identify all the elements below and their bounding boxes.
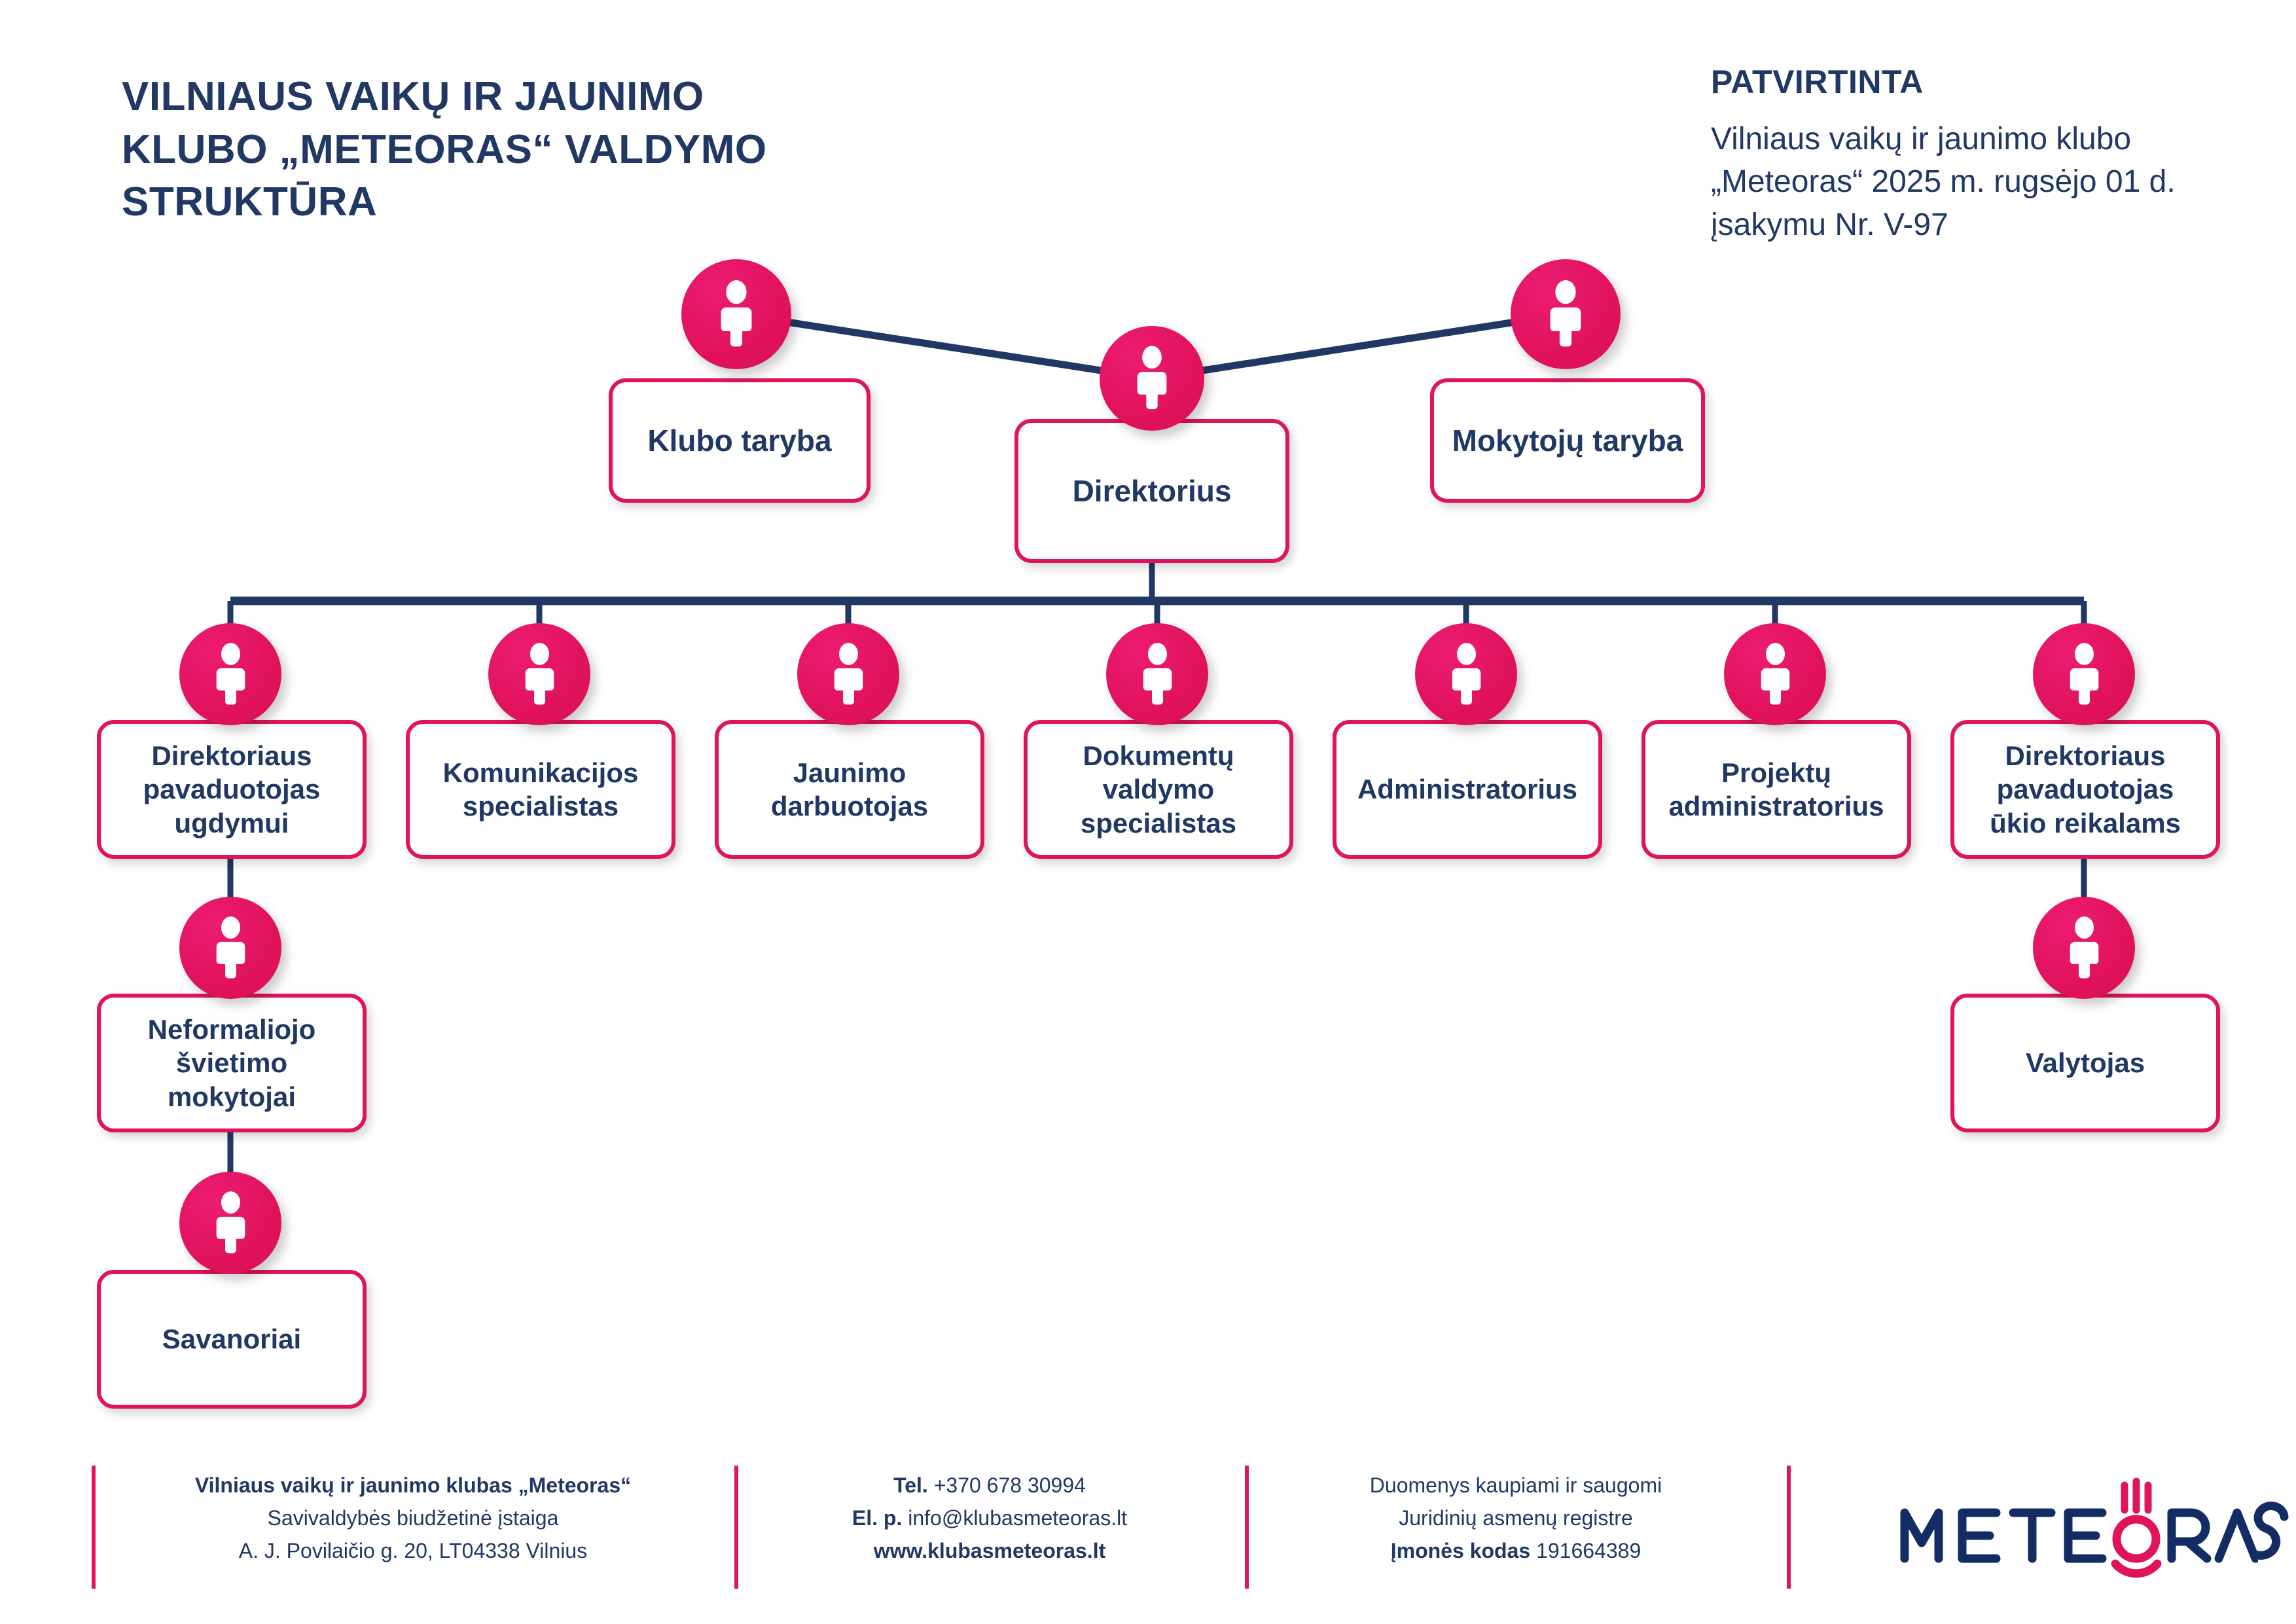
person-icon	[1106, 623, 1208, 725]
footer-line: Vilniaus vaikų ir jaunimo klubas „Meteor…	[92, 1470, 734, 1502]
node-box[interactable]: Savanoriai	[97, 1270, 367, 1409]
footer-line-label: Įmonės kodas	[1391, 1539, 1530, 1562]
person-icon	[1100, 326, 1204, 431]
node-label: Projektų administratorius	[1659, 756, 1893, 823]
footer-column-registry: Duomenys kaupiami ir saugomiJuridinių as…	[1245, 1470, 1787, 1568]
footer-line-label: El. p.	[852, 1506, 902, 1530]
node-box[interactable]: Klubo taryba	[609, 378, 870, 503]
meteoras-logo	[1892, 1475, 2258, 1583]
person-icon	[179, 897, 281, 999]
node-box[interactable]: Mokytojų taryba	[1430, 378, 1705, 503]
node-box[interactable]: Direktorius	[1014, 419, 1289, 563]
person-icon	[1724, 623, 1826, 725]
node-label: Administratorius	[1348, 772, 1587, 806]
node-box[interactable]: Projektų administratorius	[1641, 720, 1911, 859]
node-label: Jaunimo darbuotojas	[762, 756, 937, 823]
org-chart: Klubo tarybaDirektoriusMokytojų tarybaDi…	[0, 0, 2296, 1440]
node-label: Direktoriaus pavaduotojas ūkio reikalams	[1981, 739, 2190, 840]
footer-column-org: Vilniaus vaikų ir jaunimo klubas „Meteor…	[92, 1470, 734, 1568]
footer-line: www.klubasmeteoras.lt	[734, 1535, 1245, 1568]
person-icon	[1415, 623, 1517, 725]
node-label: Direktoriaus pavaduotojas ugdymui	[134, 739, 330, 840]
person-icon	[179, 623, 281, 725]
person-icon	[488, 623, 590, 725]
person-icon	[1511, 259, 1621, 369]
person-icon	[179, 1172, 281, 1274]
node-label: Mokytojų taryba	[1443, 422, 1693, 459]
node-label: Savanoriai	[153, 1322, 310, 1356]
footer-line: Juridinių asmenų registre	[1245, 1502, 1787, 1535]
footer-line: A. J. Povilaičio g. 20, LT04338 Vilnius	[92, 1535, 734, 1568]
node-label: Neformaliojo švietimo mokytojai	[139, 1013, 325, 1113]
footer-line-value: +370 678 30994	[928, 1473, 1086, 1497]
node-box[interactable]: Administratorius	[1333, 720, 1602, 859]
person-icon	[681, 259, 791, 369]
footer-line: Tel. +370 678 30994	[734, 1470, 1245, 1502]
node-label: Dokumentų valdymo specialistas	[1071, 739, 1246, 840]
node-box[interactable]: Dokumentų valdymo specialistas	[1024, 720, 1293, 859]
node-box[interactable]: Komunikacijos specialistas	[406, 720, 675, 859]
node-box[interactable]: Jaunimo darbuotojas	[715, 720, 984, 859]
person-icon	[2033, 623, 2135, 725]
person-icon	[2033, 897, 2135, 999]
footer-column-contacts: Tel. +370 678 30994El. p. info@klubasmet…	[734, 1470, 1245, 1568]
node-box[interactable]: Direktoriaus pavaduotojas ugdymui	[97, 720, 367, 859]
node-label: Direktorius	[1064, 473, 1241, 509]
node-label: Valytojas	[2017, 1046, 2154, 1079]
footer-line-label: Tel.	[893, 1473, 928, 1497]
footer-divider	[1787, 1466, 1791, 1589]
org-chart-page: VILNIAUS VAIKŲ IR JAUNIMO KLUBO „METEORA…	[0, 0, 2296, 1624]
node-box[interactable]: Valytojas	[1950, 994, 2220, 1132]
footer-line-value: info@klubasmeteoras.lt	[902, 1506, 1127, 1530]
footer: Vilniaus vaikų ir jaunimo klubas „Meteor…	[0, 1456, 2296, 1624]
footer-line-value: 191664389	[1530, 1539, 1641, 1562]
footer-line: El. p. info@klubasmeteoras.lt	[734, 1502, 1245, 1535]
node-box[interactable]: Direktoriaus pavaduotojas ūkio reikalams	[1950, 720, 2220, 859]
node-label: Komunikacijos specialistas	[434, 756, 648, 823]
node-box[interactable]: Neformaliojo švietimo mokytojai	[97, 994, 367, 1132]
footer-line: Įmonės kodas 191664389	[1245, 1535, 1787, 1568]
footer-line: Duomenys kaupiami ir saugomi	[1245, 1470, 1787, 1502]
logo-accent-o	[2115, 1481, 2157, 1574]
node-label: Klubo taryba	[638, 422, 840, 459]
person-icon	[797, 623, 899, 725]
footer-line: Savivaldybės biudžetinė įstaiga	[92, 1502, 734, 1535]
